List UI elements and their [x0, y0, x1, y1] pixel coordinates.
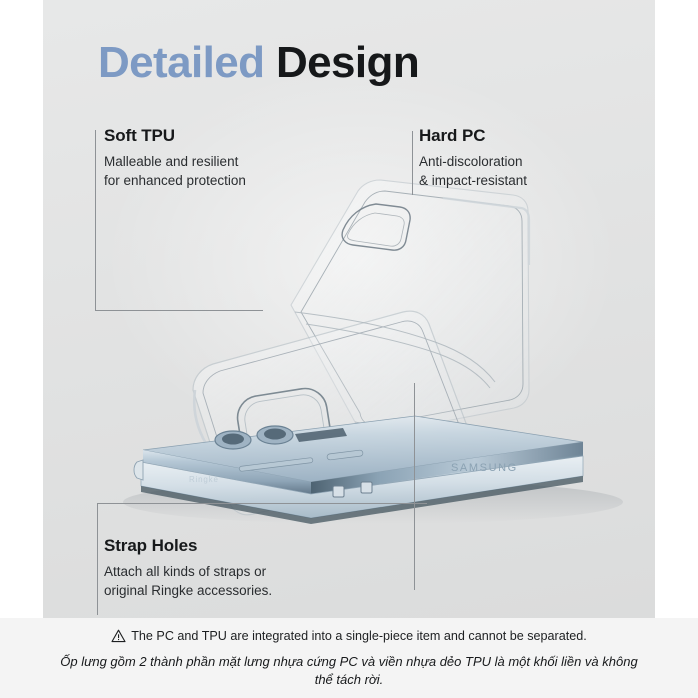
warning-triangle-icon [111, 629, 126, 647]
page-title-part-2: Design [276, 38, 419, 87]
callout-soft-tpu: Soft TPU Malleable and resilient for enh… [104, 126, 354, 190]
callout-strap-holes-body: Attach all kinds of straps or original R… [104, 562, 404, 600]
footer-notice-vietnamese: Ốp lưng gồm 2 thành phần mặt lưng nhựa c… [60, 653, 638, 689]
case-corner-clip [134, 460, 143, 480]
callout-soft-tpu-heading: Soft TPU [104, 126, 354, 146]
footer-notice-english: The PC and TPU are integrated into a sin… [0, 629, 698, 647]
callout-hard-pc: Hard PC Anti-discoloration & impact-resi… [419, 126, 659, 190]
callout-strap-holes-heading: Strap Holes [104, 536, 404, 556]
callout-soft-tpu-body: Malleable and resilient for enhanced pro… [104, 152, 354, 190]
callout-hard-pc-heading: Hard PC [419, 126, 659, 146]
leader-line-hard-pc-pointer [414, 383, 415, 590]
callout-strap-holes: Strap Holes Attach all kinds of straps o… [104, 536, 404, 600]
footer-notice-english-text: The PC and TPU are integrated into a sin… [131, 629, 587, 643]
ringke-brand-text: Ringke [189, 475, 219, 484]
samsung-brand-text: SAMSUNG [451, 462, 518, 474]
leader-line-soft-tpu-horizontal [95, 310, 263, 311]
leader-line-soft-tpu-vertical [95, 130, 96, 311]
strap-hole-hardware-2 [361, 482, 372, 493]
product-feature-image: Detailed Design [0, 0, 698, 698]
leader-line-hard-pc-vertical [412, 131, 413, 195]
page-title: Detailed Design [98, 41, 419, 85]
strap-hole-hardware-1 [333, 486, 344, 497]
leader-line-strap-holes-horizontal [97, 503, 427, 504]
leader-line-strap-holes-vertical [97, 503, 98, 615]
page-title-part-1: Detailed [98, 38, 264, 87]
callout-hard-pc-body: Anti-discoloration & impact-resistant [419, 152, 659, 190]
